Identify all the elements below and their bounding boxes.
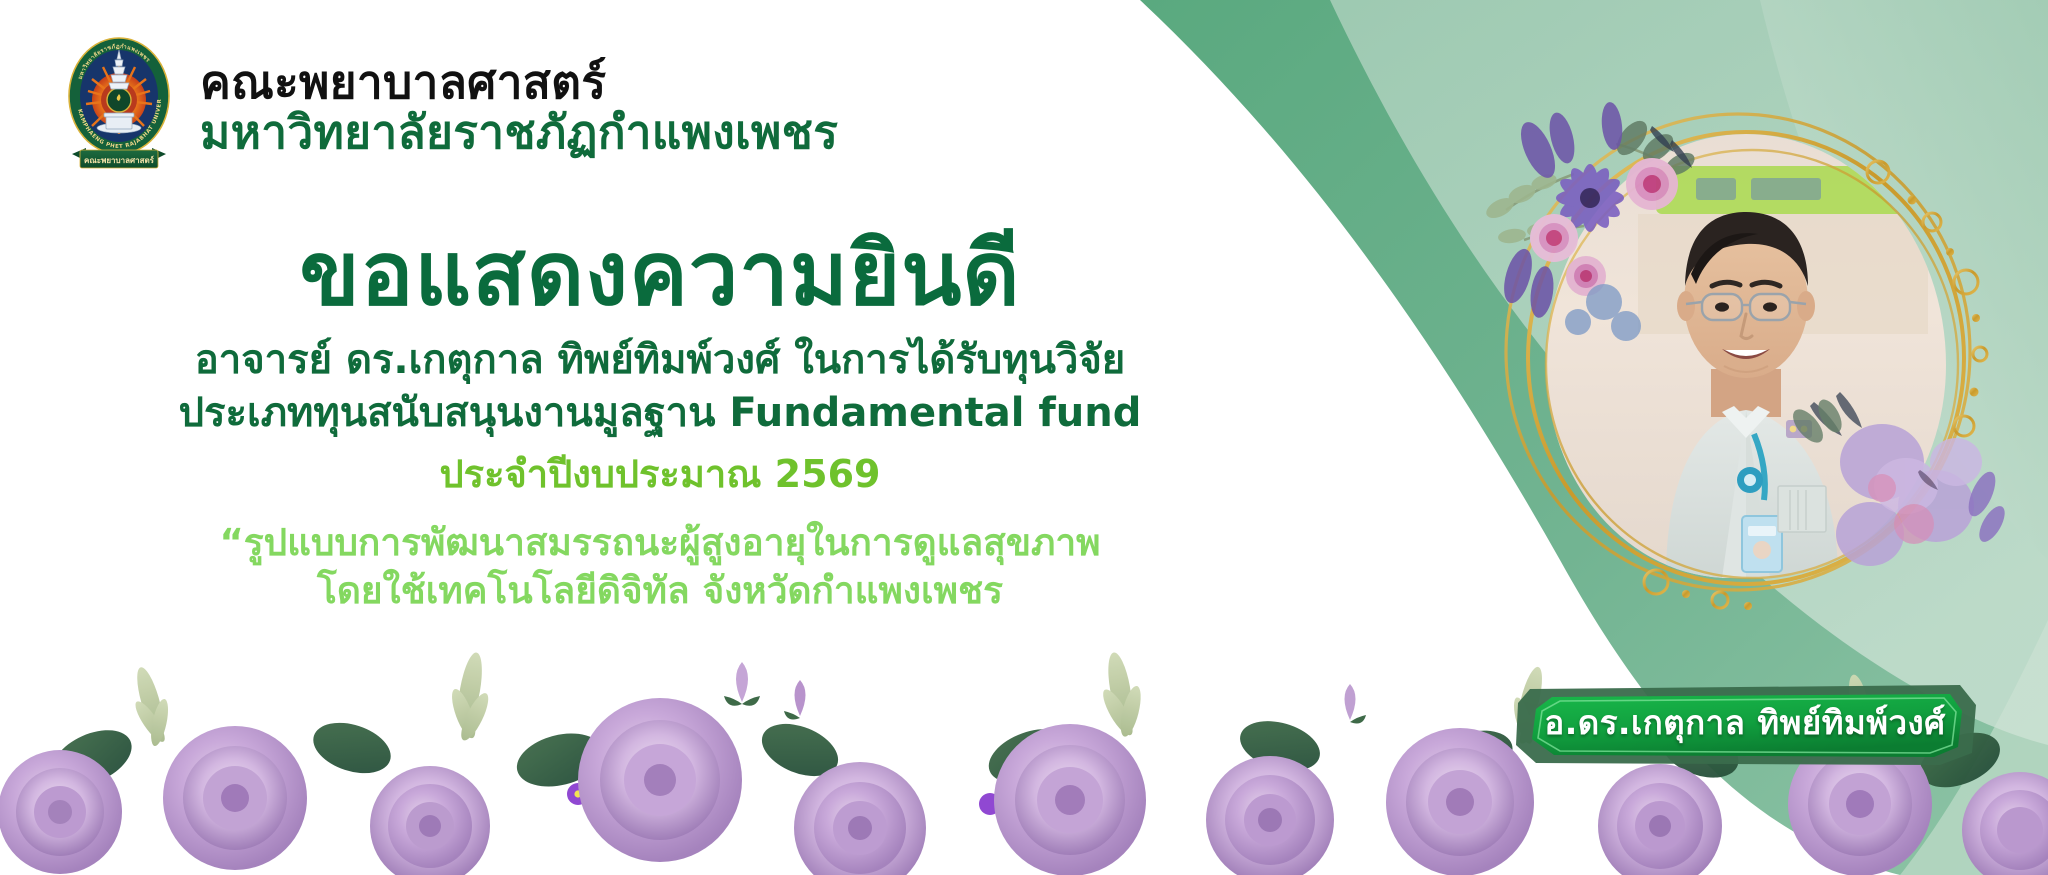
- watercolor-flowers-bottom-icon: [1786, 366, 2016, 606]
- header-text-group: คณะพยาบาลศาสตร์ มหาวิทยาลัยราชภัฏกำแพงเพ…: [200, 59, 838, 155]
- kpru-emblem-icon: มหาวิทยาลัยราชภัฏกำแพงเพชร KAMPHAENG PHE…: [60, 34, 178, 179]
- congratulations-headline: ขอแสดงความยินดี: [0, 228, 1320, 320]
- project-title-line-1: “รูปแบบการพัฒนาสมรรถนะผู้สูงอายุในการดูแ…: [0, 520, 1320, 566]
- plaque-name-text: อ.ดร.เกตุกาล ทิพย์ทิมพ์วงศ์: [1510, 681, 1980, 767]
- faculty-name: คณะพยาบาลศาสตร์: [200, 59, 838, 105]
- fiscal-year-line: ประจำปีงบประมาณ 2569: [0, 452, 1320, 498]
- grant-type-line: ประเภททุนสนับสนุนงานมูลฐาน Fundamental f…: [0, 389, 1320, 438]
- watercolor-flowers-top-icon: [1466, 90, 1726, 350]
- university-logo: มหาวิทยาลัยราชภัฏกำแพงเพชร KAMPHAENG PHE…: [60, 34, 178, 179]
- project-title-block: “รูปแบบการพัฒนาสมรรถนะผู้สูงอายุในการดูแ…: [0, 520, 1320, 615]
- message-block: ขอแสดงความยินดี อาจารย์ ดร.เกตุกาล ทิพย์…: [0, 228, 1320, 614]
- congratulations-banner: มหาวิทยาลัยราชภัฏกำแพงเพชร KAMPHAENG PHE…: [0, 0, 2048, 875]
- logo-ribbon: คณะพยาบาลศาสตร์: [72, 148, 166, 168]
- recipient-line: อาจารย์ ดร.เกตุกาล ทิพย์ทิมพ์วงศ์ ในการไ…: [0, 336, 1320, 385]
- name-plaque: อ.ดร.เกตุกาล ทิพย์ทิมพ์วงศ์: [1510, 681, 1980, 767]
- university-name: มหาวิทยาลัยราชภัฏกำแพงเพชร: [200, 109, 838, 155]
- project-title-line-2: โดยใช้เทคโนโลยีดิจิทัล จังหวัดกำแพงเพชร: [0, 568, 1320, 614]
- header: มหาวิทยาลัยราชภัฏกำแพงเพชร KAMPHAENG PHE…: [60, 34, 838, 179]
- portrait-area: [1480, 96, 2010, 616]
- svg-text:คณะพยาบาลศาสตร์: คณะพยาบาลศาสตร์: [84, 155, 155, 165]
